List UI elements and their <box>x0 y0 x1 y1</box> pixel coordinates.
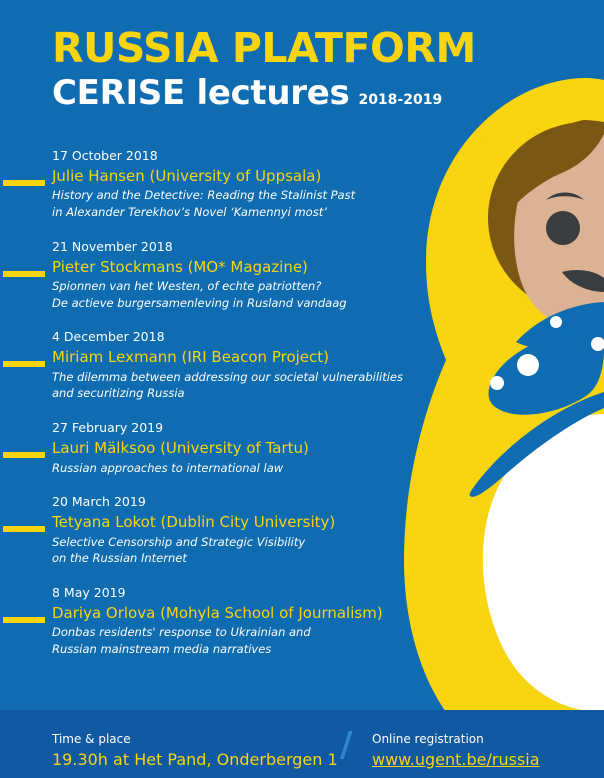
lecture-description-line: History and the Detective: Reading the S… <box>52 187 420 204</box>
lecture-description-line: in Alexander Terekhov’s Novel ‘Kamennyi … <box>52 204 420 221</box>
academic-year-label: 2018-2019 <box>358 92 442 108</box>
list-item: 27 February 2019 Lauri Mälksoo (Universi… <box>0 420 420 476</box>
lecture-date: 17 October 2018 <box>52 148 420 165</box>
lecture-speaker: Tetyana Lokot (Dublin City University) <box>52 513 420 533</box>
lecture-date: 27 February 2019 <box>52 420 420 437</box>
dash-marker-icon <box>3 617 45 623</box>
lecture-date: 4 December 2018 <box>52 329 420 346</box>
doll-eye <box>546 211 580 245</box>
lecture-description-line: De actieve burgersamenleving in Rusland … <box>52 295 420 312</box>
doll-dot-large <box>517 354 539 376</box>
registration-link[interactable]: www.ugent.be/russia <box>372 750 540 770</box>
lecture-description: History and the Detective: Reading the S… <box>52 187 420 220</box>
lecture-date: 20 March 2019 <box>52 494 420 511</box>
doll-dot-small <box>550 316 562 328</box>
lecture-description-line: The dilemma between addressing our socie… <box>52 369 420 386</box>
lecture-description-line: Selective Censorship and Strategic Visib… <box>52 534 420 551</box>
lecture-description-line: Russian approaches to international law <box>52 460 420 477</box>
footer-divider-icon: / <box>340 728 354 764</box>
lecture-description: Selective Censorship and Strategic Visib… <box>52 534 420 567</box>
poster-canvas: RUSSIA PLATFORM CERISE lectures 2018-201… <box>0 0 604 778</box>
lecture-description: Russian approaches to international law <box>52 460 420 477</box>
lecture-speaker: Pieter Stockmans (MO* Magazine) <box>52 258 420 278</box>
footer-time-place-block: Time & place 19.30h at Het Pand, Onderbe… <box>52 732 338 770</box>
dash-marker-icon <box>3 361 45 367</box>
footer-registration-label: Online registration <box>372 732 540 748</box>
lecture-description: Spionnen van het Westen, of echte patrio… <box>52 278 420 311</box>
dash-marker-icon <box>3 526 45 532</box>
lecture-speaker: Dariya Orlova (Mohyla School of Journali… <box>52 604 420 624</box>
list-item: 8 May 2019 Dariya Orlova (Mohyla School … <box>0 585 420 658</box>
dash-marker-icon <box>3 180 45 186</box>
subtitle-row: CERISE lectures 2018-2019 <box>52 76 476 110</box>
list-item: 21 November 2018 Pieter Stockmans (MO* M… <box>0 239 420 312</box>
lecture-description-line: and securitizing Russia <box>52 385 420 402</box>
page-title: RUSSIA PLATFORM <box>52 28 476 69</box>
lecture-date: 21 November 2018 <box>52 239 420 256</box>
lecture-description: Donbas residents' response to Ukrainian … <box>52 624 420 657</box>
dash-marker-icon <box>3 271 45 277</box>
list-item: 4 December 2018 Miriam Lexmann (IRI Beac… <box>0 329 420 402</box>
lecture-list: 17 October 2018 Julie Hansen (University… <box>0 148 420 676</box>
footer-registration-block: Online registration www.ugent.be/russia <box>372 732 540 770</box>
lecture-speaker: Miriam Lexmann (IRI Beacon Project) <box>52 348 420 368</box>
poster-footer: Time & place 19.30h at Het Pand, Onderbe… <box>0 710 604 778</box>
lecture-speaker: Julie Hansen (University of Uppsala) <box>52 167 420 187</box>
lecture-date: 8 May 2019 <box>52 585 420 602</box>
doll-dot-small <box>490 376 504 390</box>
footer-inner: Time & place 19.30h at Het Pand, Onderbe… <box>0 710 604 778</box>
list-item: 20 March 2019 Tetyana Lokot (Dublin City… <box>0 494 420 567</box>
page-subtitle: CERISE lectures <box>52 76 349 110</box>
lecture-speaker: Lauri Mälksoo (University of Tartu) <box>52 439 420 459</box>
lecture-description-line: Donbas residents' response to Ukrainian … <box>52 624 420 641</box>
footer-time-place-label: Time & place <box>52 732 338 748</box>
footer-time-place-value: 19.30h at Het Pand, Onderbergen 1 <box>52 750 338 770</box>
list-item: 17 October 2018 Julie Hansen (University… <box>0 148 420 221</box>
lecture-description: The dilemma between addressing our socie… <box>52 369 420 402</box>
lecture-description-line: on the Russian Internet <box>52 550 420 567</box>
poster-header: RUSSIA PLATFORM CERISE lectures 2018-201… <box>52 28 476 110</box>
lecture-description-line: Russian mainstream media narratives <box>52 641 420 658</box>
dash-marker-icon <box>3 452 45 458</box>
lecture-description-line: Spionnen van het Westen, of echte patrio… <box>52 278 420 295</box>
